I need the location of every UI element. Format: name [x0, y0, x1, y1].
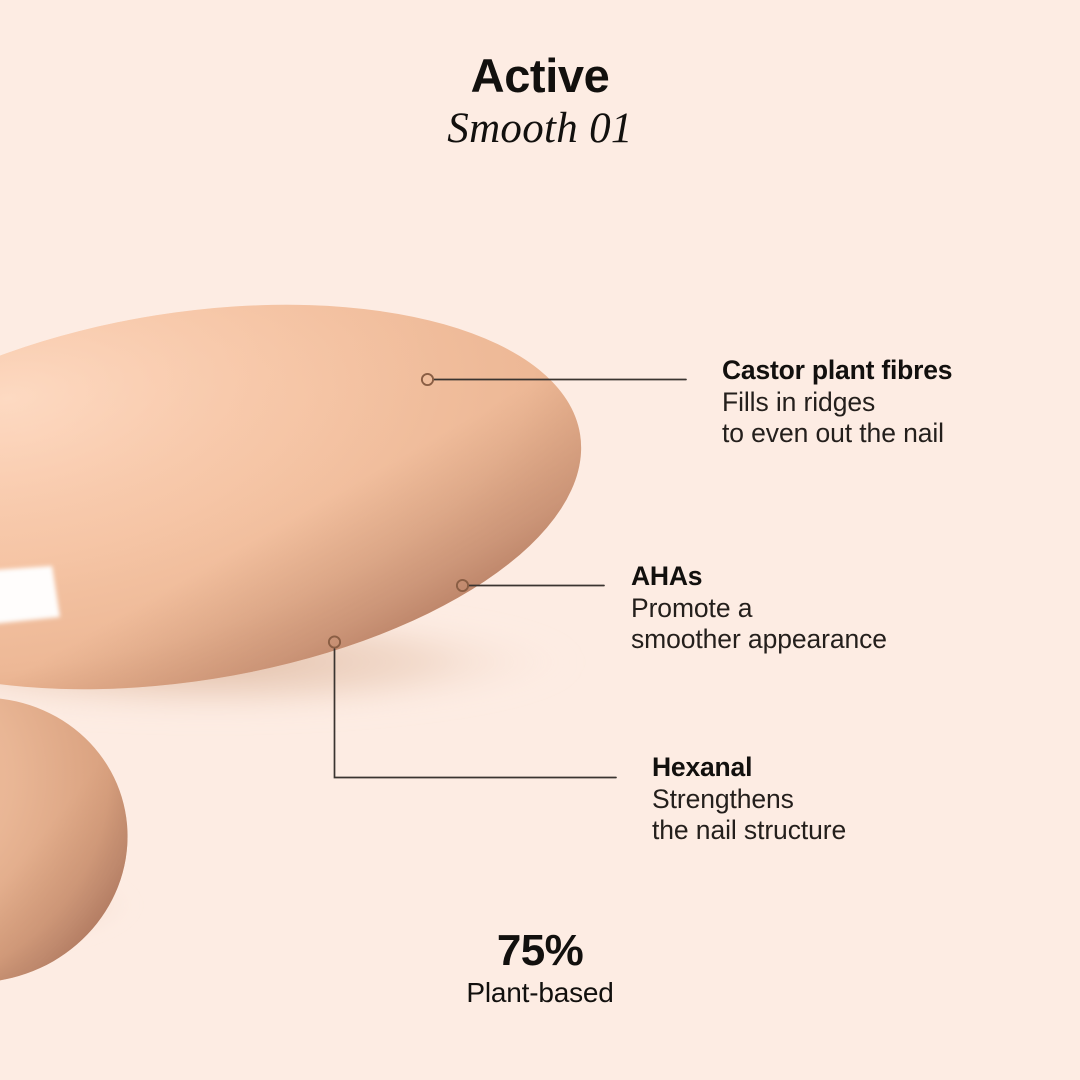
callout-description-line: Promote a	[631, 593, 887, 624]
poster-canvas: Active Smooth 01 Castor plant fibres Fil…	[0, 0, 1080, 1080]
leader-dot-ahas	[457, 580, 468, 591]
leader-line-castor	[422, 374, 686, 385]
callout-ahas: AHAs Promote a smoother appearance	[631, 561, 887, 655]
callout-castor-plant-fibres: Castor plant fibres Fills in ridges to e…	[722, 355, 952, 449]
callout-description-line: Strengthens	[652, 784, 846, 815]
stat-label: Plant-based	[0, 978, 1080, 1009]
callout-description-line: to even out the nail	[722, 418, 952, 449]
page-header: Active Smooth 01	[0, 52, 1080, 151]
callout-description-line: Fills in ridges	[722, 387, 952, 418]
callout-title: Hexanal	[652, 752, 846, 783]
callout-description-line: the nail structure	[652, 815, 846, 846]
leader-line-hexanal	[329, 636, 616, 777]
callout-title: Castor plant fibres	[722, 355, 952, 386]
page-title: Active	[0, 52, 1080, 100]
droplet-large	[0, 253, 609, 742]
product-artwork	[0, 0, 1080, 1080]
leader-dot-castor	[422, 374, 433, 385]
leader-line-ahas	[457, 580, 604, 591]
callout-hexanal: Hexanal Strengthens the nail structure	[652, 752, 846, 846]
droplet-large-shadow	[0, 604, 580, 720]
plant-based-stat: 75% Plant-based	[0, 928, 1080, 1009]
callout-title: AHAs	[631, 561, 887, 592]
gloss-highlight-streak	[0, 566, 60, 626]
stat-value: 75%	[0, 928, 1080, 974]
page-subtitle: Smooth 01	[0, 106, 1080, 151]
leader-dot-hexanal	[329, 636, 340, 647]
callout-description-line: smoother appearance	[631, 624, 887, 655]
